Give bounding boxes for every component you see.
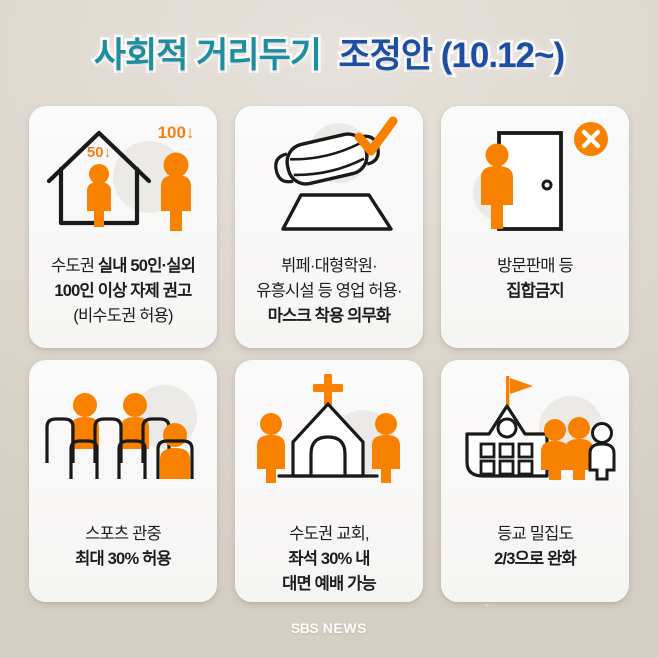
person-at-door-icon (441, 106, 629, 248)
card-caption: 뷔페·대형학원· 유흥시설 등 영업 허용· 마스크 착용 의무화 (235, 248, 423, 348)
title-segment-secondary: 조정안 (10.12~) (338, 36, 564, 75)
mask-on-table-check-icon (235, 106, 423, 248)
caption-line-2: 최대 30% 허용 (37, 547, 209, 572)
indoor-limit-badge: 50↓ (87, 144, 111, 161)
card-door-to-door-ban[interactable]: 방문판매 등 집합금지 (441, 106, 629, 348)
caption-line-1: 스포츠 관중 (37, 522, 209, 547)
card-church-worship[interactable]: 수도권 교회, 좌석 30% 내 대면 예배 가능 (235, 360, 423, 602)
brand-sbs: SBS (291, 620, 318, 636)
title-segment-primary: 사회적 거리두기 (94, 36, 321, 75)
card-caption: 방문판매 등 집합금지 (441, 248, 629, 348)
card-caption: 수도권 실내 50인·실외 100인 이상 자제 권고 (비수도권 허용) (29, 248, 217, 348)
card-caption: 등교 밀집도 2/3으로 완화 (441, 502, 629, 602)
card-gathering-limit[interactable]: 50↓ 100↓ 수도권 실내 50인·실외 100인 이상 자제 권고 (비수… (29, 106, 217, 348)
caption-line-1: 등교 밀집도 (449, 522, 621, 547)
house-with-people-icon: 50↓ 100↓ (29, 106, 217, 248)
caption-line-1a: 수도권 (51, 257, 98, 275)
card-school-density[interactable]: 등교 밀집도 2/3으로 완화 (441, 360, 629, 602)
brand-news: NEWS (318, 620, 367, 636)
footer-brand: SBS NEWS (0, 620, 658, 636)
school-with-students-icon (441, 360, 629, 502)
caption-line-2: 2/3으로 완화 (449, 547, 621, 572)
card-caption: 스포츠 관중 최대 30% 허용 (29, 502, 217, 602)
caption-line-1: 방문판매 등 (449, 254, 621, 279)
card-business-allowed[interactable]: 뷔페·대형학원· 유흥시설 등 영업 허용· 마스크 착용 의무화 (235, 106, 423, 348)
caption-line-3: 마스크 착용 의무화 (243, 304, 415, 329)
measures-grid: 50↓ 100↓ 수도권 실내 50인·실외 100인 이상 자제 권고 (비수… (29, 106, 629, 602)
caption-line-2: 유흥시설 등 영업 허용· (243, 279, 415, 304)
caption-line-2: 좌석 30% 내 (243, 547, 415, 572)
caption-line-1b: 실내 50인·실외 (98, 257, 195, 275)
caption-line-3: (비수도권 허용) (37, 304, 209, 329)
caption-line-1: 수도권 교회, (243, 522, 415, 547)
card-caption: 수도권 교회, 좌석 30% 내 대면 예배 가능 (235, 502, 423, 602)
caption-line-3: 대면 예배 가능 (243, 572, 415, 597)
caption-line-2: 집합금지 (449, 279, 621, 304)
church-with-people-icon (235, 360, 423, 502)
cross-icon (313, 374, 343, 406)
caption-line-1: 뷔페·대형학원· (243, 254, 415, 279)
outdoor-limit-badge: 100↓ (158, 123, 195, 142)
caption-line-2: 100인 이상 자제 권고 (37, 279, 209, 304)
flag-icon (506, 376, 533, 406)
page-title: 사회적 거리두기 조정안 (10.12~) (0, 30, 658, 86)
card-sports-spectators[interactable]: 스포츠 관중 최대 30% 허용 (29, 360, 217, 602)
stadium-seats-spectators-icon (29, 360, 217, 502)
